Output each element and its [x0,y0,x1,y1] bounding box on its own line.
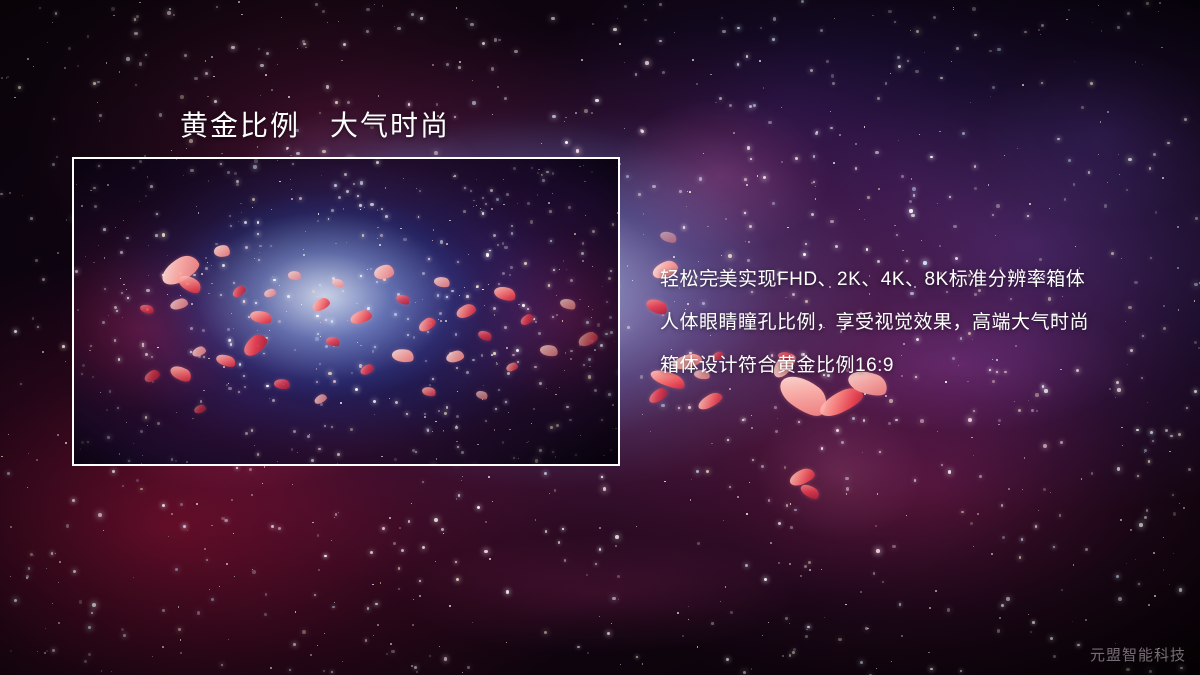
star [35,259,38,262]
preview-frame[interactable] [72,157,620,466]
star [1098,5,1099,6]
star [207,96,209,98]
star [168,536,170,538]
star [33,555,34,556]
star [45,628,46,629]
star [52,603,53,604]
star [638,193,640,195]
star [806,629,807,630]
star [743,418,746,421]
star [996,204,1000,208]
star [121,628,124,631]
star [365,639,368,642]
star [939,245,941,247]
star [697,646,699,648]
star [1024,31,1027,34]
star [209,589,210,590]
star [977,513,979,515]
star [751,415,753,417]
star [1111,252,1114,255]
star [1101,30,1103,32]
star [830,111,831,112]
star [292,484,293,485]
star [1035,525,1038,528]
star [711,622,714,625]
star [706,470,709,473]
star [653,376,654,377]
star [162,609,165,612]
star [558,541,560,543]
star [929,607,931,609]
star [1126,189,1129,192]
star [485,521,487,523]
star [1138,583,1140,585]
star [846,487,849,490]
star [916,30,920,34]
star [907,60,909,62]
star [260,95,262,97]
star [682,635,684,637]
star [821,569,822,570]
star [1177,226,1179,228]
star [37,651,38,652]
star [832,82,835,85]
star [627,265,628,266]
star [1085,548,1088,551]
star [875,151,878,154]
star [416,671,418,673]
star [801,0,804,3]
star [824,617,825,618]
star [811,182,813,184]
star [180,503,183,506]
star [644,19,647,22]
star [710,74,712,76]
star [895,419,898,422]
star [974,165,977,168]
star [98,513,102,517]
star [264,613,266,615]
star [197,611,201,615]
star [434,518,438,522]
star [497,86,499,88]
star [1173,512,1177,516]
star [595,563,597,565]
star [10,526,12,528]
star [456,498,458,500]
star [324,633,326,635]
star [846,390,847,391]
star [770,542,772,544]
star [1130,529,1132,531]
star [504,97,507,100]
star [1107,111,1109,113]
star [988,184,990,186]
star [221,153,222,154]
star [711,443,713,445]
star [318,569,319,570]
star [894,21,897,24]
star [603,487,607,491]
star [807,626,810,629]
star [821,447,823,449]
star [1128,158,1132,162]
star [885,82,888,85]
star [707,226,709,228]
star [1092,22,1094,24]
star [615,545,617,547]
star [9,192,11,194]
star [888,422,891,425]
star [382,5,384,7]
star [1135,559,1136,560]
star [1159,2,1161,4]
star [1006,597,1009,600]
star [998,419,1001,422]
star [331,671,333,673]
star [889,399,892,402]
star [7,76,9,78]
star [1036,410,1038,412]
star [878,188,880,190]
star [841,441,844,444]
star [1098,154,1099,155]
star [87,35,90,38]
star [749,105,753,109]
star [617,18,618,19]
star [643,4,644,5]
star [324,555,326,557]
star [30,553,33,556]
star [1004,155,1005,156]
star [852,417,855,420]
star [464,465,467,466]
star [1021,538,1024,541]
star [459,61,461,63]
star [721,255,722,256]
star [865,627,868,630]
star [93,82,96,85]
star [601,476,603,478]
star [1153,153,1156,156]
star [793,648,796,651]
star [391,650,395,654]
star [1038,510,1039,511]
star [998,424,1000,426]
star [576,149,580,153]
star [906,515,907,516]
star [1081,478,1083,480]
star [1022,489,1023,490]
star [465,18,468,21]
star [1104,204,1108,208]
star [343,43,346,46]
star [940,77,943,80]
star [911,178,913,180]
star [953,7,954,8]
star [62,345,65,348]
star [231,499,233,501]
star [26,575,29,578]
star [1049,208,1050,209]
star [27,487,28,488]
star [902,250,904,252]
star [751,668,753,670]
star [753,104,755,106]
star [803,253,806,256]
star [28,453,29,454]
star [46,650,48,652]
star [772,38,775,41]
star [1024,457,1026,459]
star [287,147,289,149]
star [332,606,334,608]
star [778,522,781,525]
star [374,4,375,5]
star [1149,167,1152,170]
star [901,635,903,637]
slide-canvas: 黄金比例 大气时尚 轻松完美实现FHD、2K、4K、8K标准分辨率箱体 人体眼睛… [0,0,1200,675]
star [408,520,411,523]
star [37,326,39,328]
star [1028,614,1029,615]
star [813,155,816,158]
star [205,60,207,62]
body-line-3: 箱体设计符合黄金比例16:9 [660,344,1180,387]
star [1074,61,1075,62]
star [228,639,229,640]
star [876,549,880,553]
star [260,64,264,68]
star [835,245,839,249]
star [1194,390,1197,393]
star [386,653,389,656]
star [805,243,808,246]
star [599,548,602,551]
star [745,564,748,567]
star [595,99,598,102]
star [214,100,217,103]
star [178,628,181,631]
star [370,551,373,554]
star [97,81,100,84]
star [373,635,374,636]
star [888,10,891,13]
star [1081,106,1084,109]
star [703,153,704,154]
star [815,186,816,187]
star [92,603,96,607]
star [10,576,12,578]
star [145,54,147,56]
star [1144,449,1147,452]
star [677,612,679,614]
star [974,34,977,37]
star [730,611,733,614]
star [763,87,765,89]
star [746,55,749,58]
star [554,489,557,492]
star [90,465,93,466]
star [961,511,963,513]
star [341,60,343,62]
petal [816,384,866,421]
star [1180,667,1183,670]
star [492,114,493,115]
star [65,442,67,444]
star [1188,468,1191,471]
star [715,102,717,104]
star [180,95,184,99]
star [221,517,224,520]
star [1040,34,1041,35]
star [44,652,46,654]
star [726,658,729,661]
star [257,146,258,147]
star [784,466,787,469]
star [749,482,750,483]
star [1068,159,1071,162]
star [742,419,745,422]
star [52,163,55,166]
star [971,437,973,439]
star [1167,142,1170,145]
star [444,657,447,660]
star [541,143,542,144]
star [584,109,588,113]
star [1090,82,1093,85]
star [419,595,421,597]
star [795,157,798,160]
star [743,671,747,675]
star [68,47,71,50]
star [514,50,517,53]
star [746,513,748,515]
star [42,278,45,281]
star [1186,407,1188,409]
star [620,664,621,665]
star [1050,637,1053,640]
star [258,48,261,51]
star [624,62,625,63]
star [790,526,793,529]
star [973,455,974,456]
star [30,217,33,220]
star [611,623,612,624]
star [688,606,689,607]
star [877,97,880,100]
star [723,520,724,521]
star [815,132,819,136]
star [864,219,866,221]
star [768,499,771,502]
star [270,667,272,669]
page-title: 黄金比例 大气时尚 [180,104,450,144]
star [1088,171,1090,173]
star [65,361,66,362]
star [690,499,691,500]
star [915,70,919,74]
star [1041,82,1044,85]
star [139,2,140,3]
star [642,663,644,665]
star [1179,588,1182,591]
star [1126,563,1127,564]
star [953,9,954,10]
star [302,630,306,634]
star [632,280,634,282]
star [691,479,692,480]
star [549,493,550,494]
star [773,17,776,20]
star [1144,516,1148,520]
star [898,65,902,69]
star [997,48,1001,52]
star [1072,621,1073,622]
star [334,602,335,603]
star [271,525,274,528]
star [323,670,325,672]
star [265,74,267,76]
star [241,14,243,16]
star [1027,215,1030,218]
star [930,156,933,159]
star [22,195,23,196]
star [171,513,173,515]
star [562,528,565,531]
star [565,117,566,118]
star [577,646,579,648]
star [778,562,780,564]
star [809,569,811,571]
star [759,60,761,62]
star [897,56,900,59]
star [293,643,296,646]
star [84,660,87,663]
star [830,127,832,129]
star [951,61,952,62]
star [162,646,164,648]
star [8,434,9,435]
star [692,59,694,61]
star [28,567,31,570]
star [748,241,750,243]
star [664,481,666,483]
star [414,666,417,669]
star [489,558,491,560]
star [234,576,235,577]
star [892,545,896,549]
star [394,26,395,27]
star [1068,9,1070,11]
body-line-1: 轻松完美实现FHD、2K、4K、8K标准分辨率箱体 [660,258,1180,301]
star [169,8,171,10]
star [56,156,58,158]
star [297,48,298,49]
star [761,465,764,468]
star [1053,655,1056,658]
star [830,220,834,224]
star [413,599,414,600]
star [896,234,898,236]
star [947,608,951,612]
star [221,664,224,667]
star [1031,409,1034,412]
star [789,654,792,657]
watermark: 元盟智能科技 [1090,644,1186,665]
star [1061,589,1063,591]
star [52,22,53,23]
